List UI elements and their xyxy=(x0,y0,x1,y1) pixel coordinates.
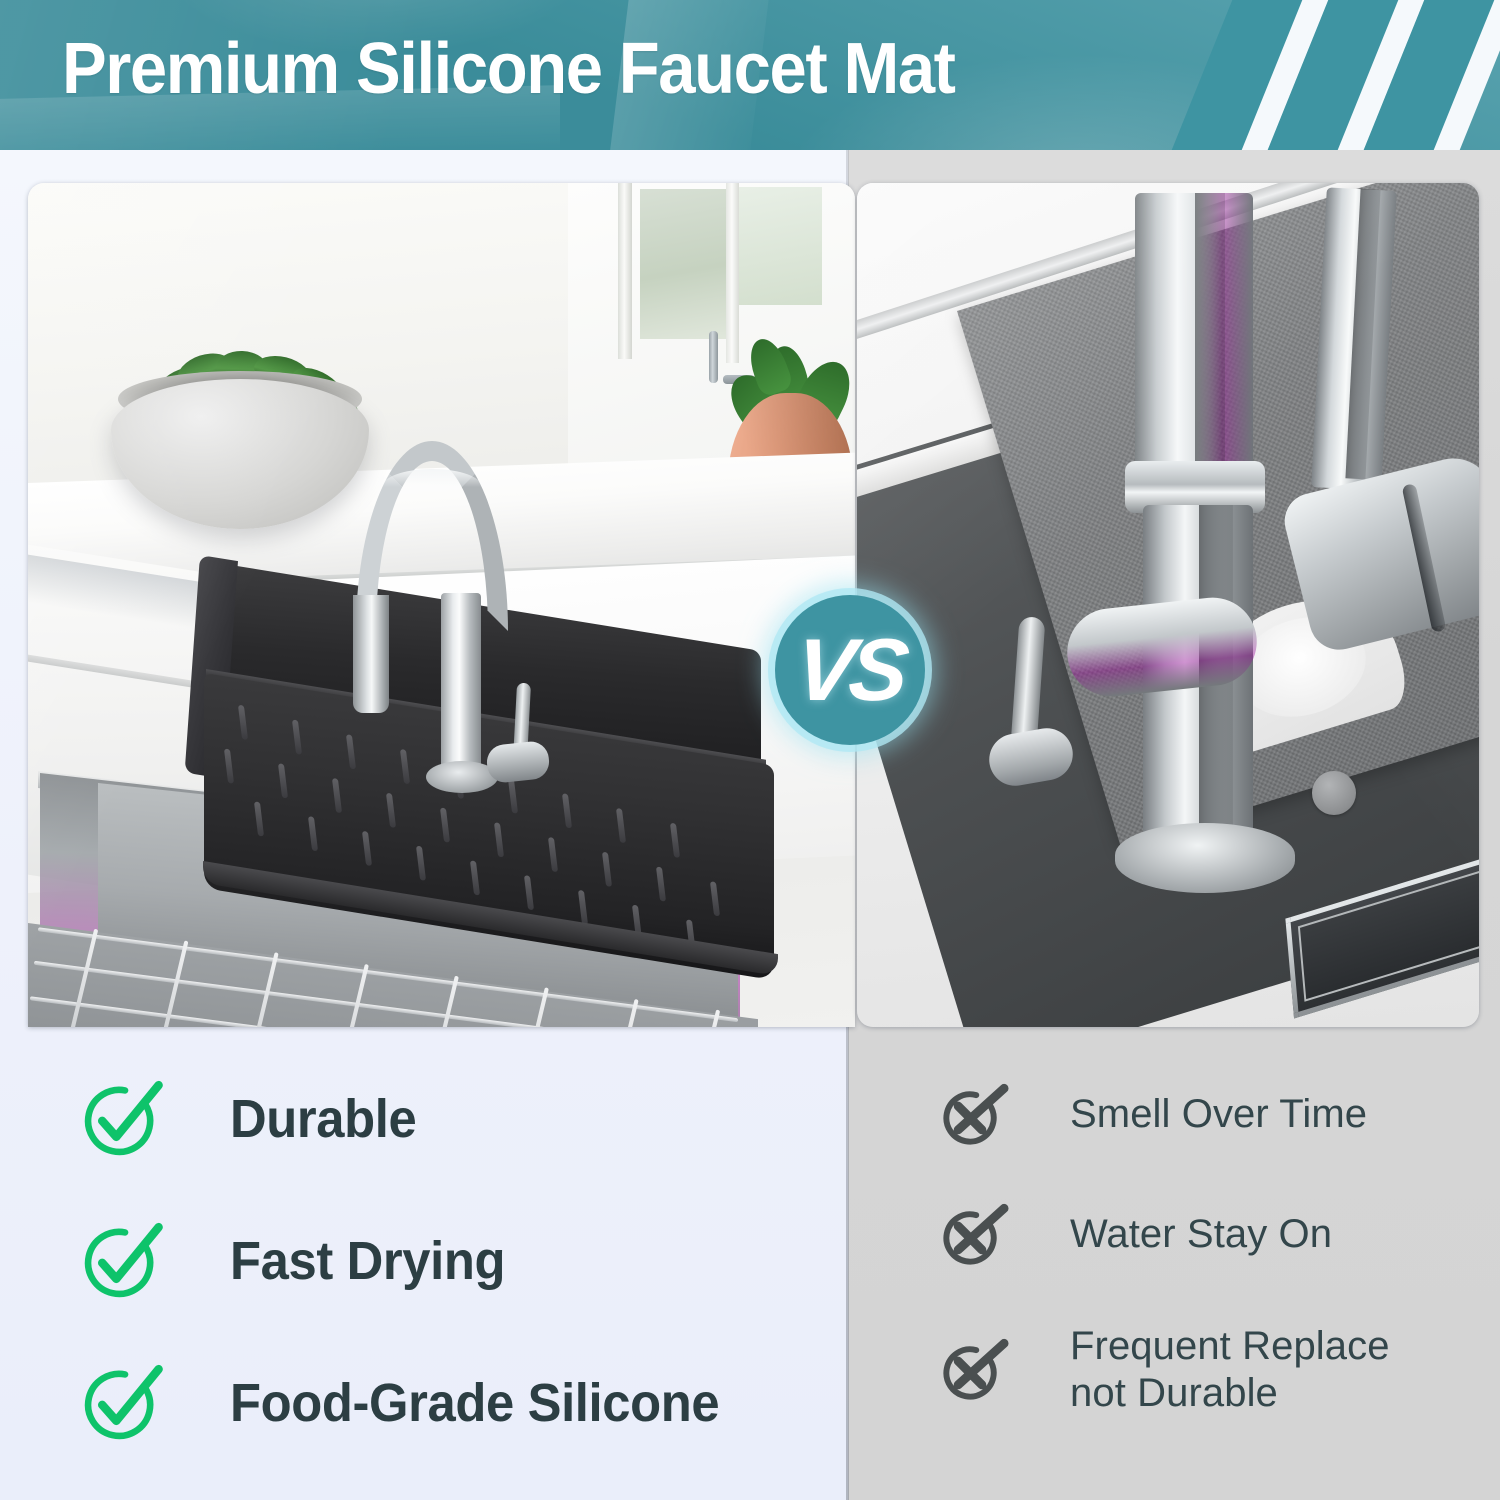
benefit-label: Food-Grade Silicone xyxy=(230,1372,719,1434)
drawback-label-line1: Frequent Replace xyxy=(1070,1324,1390,1368)
benefit-item: Durable xyxy=(28,1048,846,1190)
vs-badge: VS xyxy=(775,595,925,745)
check-circle-icon xyxy=(74,1072,168,1166)
benefits-list: Durable Fast Drying Food-Grade Silicone xyxy=(28,1048,846,1474)
drawback-label-line2: not Durable xyxy=(1070,1371,1278,1415)
drawback-label-multiline: Frequent Replace not Durable xyxy=(1070,1323,1390,1417)
benefit-label: Fast Drying xyxy=(230,1230,505,1292)
window-handle-icon xyxy=(709,331,718,383)
benefit-label: Durable xyxy=(230,1088,416,1150)
drawback-item: Frequent Replace not Durable xyxy=(890,1295,1470,1445)
drawbacks-list: Smell Over Time Water Stay On xyxy=(890,1055,1470,1445)
drawback-item: Water Stay On xyxy=(890,1175,1470,1295)
infographic-canvas: Premium Silicone Faucet Mat xyxy=(0,0,1500,1500)
silicone-mat-product-photo xyxy=(28,183,855,1027)
cross-circle-icon xyxy=(936,1078,1010,1152)
drawback-label: Smell Over Time xyxy=(1070,1091,1367,1138)
microfiber-mat-product-photo xyxy=(857,183,1479,1027)
vs-label: VS xyxy=(792,626,909,714)
drawback-label: Water Stay On xyxy=(1070,1211,1332,1258)
benefit-item: Food-Grade Silicone xyxy=(28,1332,846,1474)
header-diagonal-stripes-decoration xyxy=(1170,0,1500,150)
benefit-item: Fast Drying xyxy=(28,1190,846,1332)
chrome-faucet-column xyxy=(441,593,481,775)
faucet-upper-column xyxy=(1135,193,1253,493)
page-title: Premium Silicone Faucet Mat xyxy=(62,28,955,110)
check-circle-icon xyxy=(74,1214,168,1308)
cross-circle-icon xyxy=(936,1333,1010,1407)
mat-snap-button xyxy=(1312,771,1356,815)
check-circle-icon xyxy=(74,1356,168,1450)
header-banner: Premium Silicone Faucet Mat xyxy=(0,0,1500,150)
cross-circle-icon xyxy=(936,1198,1010,1272)
drawback-item: Smell Over Time xyxy=(890,1055,1470,1175)
